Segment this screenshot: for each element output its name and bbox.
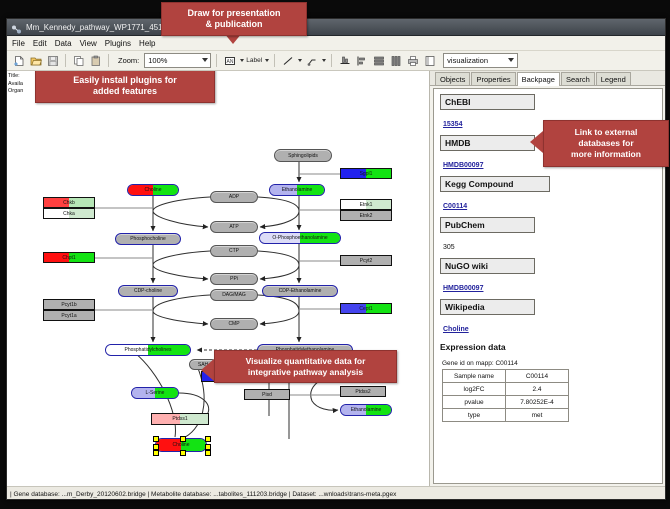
node-label: Etnk2	[360, 213, 373, 219]
gene-id-line: Gene id on mapp: C00114	[442, 360, 662, 367]
pathvisio-icon	[11, 22, 22, 33]
callout-links-line3: more information	[571, 149, 641, 160]
node-label: Etnk1	[360, 202, 373, 208]
metabolite-node-choline-top[interactable]: Choline	[127, 184, 179, 196]
callout-visualize-pointer	[201, 359, 214, 381]
toolbar-separator-1	[65, 54, 66, 67]
gene-node-chka[interactable]: Chka	[43, 208, 95, 219]
toolbar-separator-4	[274, 54, 275, 67]
node-label: L-Serine	[146, 390, 165, 396]
node-label: Ethanolamine	[282, 187, 313, 193]
toolbar-separator-2	[108, 54, 109, 67]
status-bar: | Gene database: ...m_Derby_20120602.bri…	[7, 486, 665, 500]
tab-backpage[interactable]: Backpage	[517, 72, 560, 86]
distribute-horizontal-icon[interactable]	[388, 53, 403, 68]
node-label: Ptdss2	[355, 389, 370, 395]
table-row: pvalue 7.80252E-4	[443, 396, 569, 409]
zoom-combobox[interactable]: 100%	[144, 53, 211, 68]
main-toolbar: Zoom: 100% AN Label	[7, 51, 665, 71]
node-label: PPi	[230, 276, 238, 282]
label-dropdown-icon[interactable]	[265, 59, 269, 62]
selection-handle-6[interactable]	[180, 450, 186, 456]
pathvisio-window: Mm_Kennedy_pathway_WP1771_45176.gpml Fil…	[6, 18, 666, 500]
tab-objects[interactable]: Objects	[435, 72, 470, 85]
datanode-icon[interactable]: AN	[222, 53, 237, 68]
distribute-vertical-icon[interactable]	[371, 53, 386, 68]
expression-key-type: type	[443, 409, 506, 422]
node-label: CTP	[229, 248, 239, 254]
node-label: Pcyt1b	[61, 302, 76, 308]
section-header-kegg: Kegg Compound	[440, 176, 550, 192]
section-header-wikipedia: Wikipedia	[440, 299, 535, 315]
paste-icon[interactable]	[88, 53, 103, 68]
chevron-down-icon[interactable]	[202, 58, 208, 62]
expression-value-log2fc: 2.4	[506, 383, 569, 396]
metabolite-node-ppi[interactable]: PPi	[210, 273, 258, 285]
align-left-icon[interactable]	[354, 53, 369, 68]
status-text: | Gene database: ...m_Derby_20120602.bri…	[10, 491, 396, 498]
metabolite-node-phosphatidylcholines[interactable]: Phosphatidylcholines	[105, 344, 191, 356]
callout-links-line1: Link to external	[571, 127, 641, 138]
expression-key-pvalue: pvalue	[443, 396, 506, 409]
metabolite-node-adp[interactable]: ADP	[210, 191, 258, 203]
callout-plugins: Easily install plugins for added feature…	[35, 71, 215, 103]
menu-edit[interactable]: Edit	[33, 39, 47, 48]
zoom-label: Zoom:	[118, 56, 139, 65]
tab-legend[interactable]: Legend	[596, 72, 631, 85]
node-label: ADP	[229, 194, 239, 200]
node-label: Choline	[145, 187, 162, 193]
svg-text:AN: AN	[226, 59, 233, 65]
gene-node-etnk2[interactable]: Etnk2	[340, 210, 392, 221]
table-row: type met	[443, 409, 569, 422]
section-header-pubchem: PubChem	[440, 217, 535, 233]
section-header-nugowiki: NuGO wiki	[440, 258, 535, 274]
metabolite-node-atp[interactable]: ATP	[210, 221, 258, 233]
interaction-tool-icon[interactable]	[304, 53, 319, 68]
metabolite-node-sphingolipids[interactable]: Sphingolipids	[274, 149, 332, 162]
gene-node-cept1[interactable]: Cept1	[340, 303, 392, 314]
datanode-dropdown-icon[interactable]	[240, 59, 244, 62]
callout-plugins-line2: added features	[73, 86, 177, 97]
node-label: CDP-choline	[134, 288, 162, 294]
toolbar-separator-3	[216, 54, 217, 67]
save-file-icon[interactable]	[45, 53, 60, 68]
node-label: Pcyt1a	[61, 313, 76, 319]
node-label: Choline	[173, 442, 190, 448]
window-titlebar: Mm_Kennedy_pathway_WP1771_45176.gpml	[7, 19, 665, 36]
gene-node-ptdss1[interactable]: Ptdss1	[151, 413, 209, 425]
gene-node-etnk1[interactable]: Etnk1	[340, 199, 392, 210]
gene-node-ptdss2[interactable]: Ptdss2	[340, 386, 386, 397]
print-icon[interactable]	[405, 53, 420, 68]
link-chebi[interactable]: 15354	[443, 121, 462, 128]
tab-properties[interactable]: Properties	[471, 72, 515, 85]
node-label: Sgpl1	[360, 171, 373, 177]
callout-visualize-line1: Visualize quantitative data for	[246, 356, 366, 367]
selection-handle-7[interactable]	[205, 450, 211, 456]
expression-value-type: met	[506, 409, 569, 422]
gene-node-pcyt2[interactable]: Pcyt2	[340, 255, 392, 266]
metabolite-node-phosphocholine[interactable]: Phosphocholine	[115, 233, 181, 245]
gene-node-chkb[interactable]: Chkb	[43, 197, 95, 208]
node-label: Ptdss1	[172, 416, 187, 422]
menu-data[interactable]: Data	[55, 39, 72, 48]
metabolite-node-ctp[interactable]: CTP	[210, 245, 258, 257]
link-kegg[interactable]: C00114	[443, 203, 467, 210]
line-tool-icon[interactable]	[280, 53, 295, 68]
node-label: O-Phosphoethanolamine	[272, 235, 327, 241]
expression-data-title: Expression data	[440, 342, 662, 352]
callout-links: Link to external databases for more info…	[543, 120, 669, 167]
section-header-hmdb: HMDB	[440, 135, 535, 151]
node-label: Cept1	[359, 306, 372, 312]
table-row: log2FC 2.4	[443, 383, 569, 396]
callout-draw-line1: Draw for presentation	[187, 8, 280, 19]
menu-file[interactable]: File	[12, 39, 25, 48]
node-label: Chkb	[63, 200, 75, 206]
gene-node-sgpl1[interactable]: Sgpl1	[340, 168, 392, 179]
node-label: Phosphatidylcholines	[125, 347, 172, 353]
menu-bar: File Edit Data View Plugins Help	[7, 36, 665, 51]
visualization-chevron-down-icon[interactable]	[508, 58, 514, 62]
metabolite-node-cmp[interactable]: CMP	[210, 318, 258, 330]
desktop-background: Mm_Kennedy_pathway_WP1771_45176.gpml Fil…	[0, 0, 670, 509]
visualization-combobox[interactable]: visualization	[443, 53, 518, 68]
node-label: Pisd	[262, 392, 272, 398]
open-file-icon[interactable]	[28, 53, 43, 68]
node-label: Pcyt2	[360, 258, 373, 264]
interaction-dropdown-icon[interactable]	[322, 59, 326, 62]
toolbar-separator-5	[331, 54, 332, 67]
label-button[interactable]: Label	[246, 57, 262, 64]
align-top-icon[interactable]	[337, 53, 352, 68]
line-dropdown-icon[interactable]	[298, 59, 302, 62]
selection-handle-2[interactable]	[205, 436, 211, 442]
side-panel-tabs: Objects Properties Backpage Search Legen…	[430, 71, 665, 86]
menu-plugins[interactable]: Plugins	[105, 39, 131, 48]
node-label: CDP-Ethanolamine	[279, 288, 322, 294]
expression-key-sample-name: Sample name	[443, 370, 506, 383]
metabolite-node-cdp-ethanolamine[interactable]: CDP-Ethanolamine	[262, 285, 338, 297]
link-nugowiki[interactable]: HMDB00097	[443, 285, 483, 292]
metabolite-node-dag-mag[interactable]: DAG/MAG	[210, 289, 258, 301]
node-label: Sphingolipids	[288, 153, 318, 159]
metabolite-node-ethanolamine-bottom[interactable]: Ethanolamine	[340, 404, 392, 416]
callout-draw-line2: & publication	[187, 19, 280, 30]
node-label: Phosphocholine	[130, 236, 166, 242]
menu-view[interactable]: View	[80, 39, 97, 48]
copy-icon[interactable]	[71, 53, 86, 68]
node-label: CMP	[228, 321, 239, 327]
metabolite-node-o-phosphoethanolamine[interactable]: O-Phosphoethanolamine	[259, 232, 341, 244]
value-pubchem: 305	[443, 244, 455, 251]
section-header-chebi: ChEBI	[440, 94, 535, 110]
callout-links-pointer	[530, 131, 543, 153]
link-hmdb[interactable]: HMDB00097	[443, 162, 483, 169]
new-file-icon[interactable]	[11, 53, 26, 68]
metabolite-node-cdp-choline[interactable]: CDP-choline	[118, 285, 178, 297]
gene-node-pcyt1a[interactable]: Pcyt1a	[43, 310, 95, 321]
node-label: Chpt1	[62, 255, 75, 261]
menu-help[interactable]: Help	[139, 39, 155, 48]
node-label: ATP	[229, 224, 238, 230]
metabolite-node-choline-bottom[interactable]: Choline	[155, 438, 207, 452]
gene-node-chpt1[interactable]: Chpt1	[43, 252, 95, 263]
link-wikipedia[interactable]: Choline	[443, 326, 469, 333]
gene-node-pisd[interactable]: Pisd	[244, 389, 290, 400]
gene-node-pcyt1b[interactable]: Pcyt1b	[43, 299, 95, 310]
expression-table: Sample name C00114 log2FC 2.4 pvalue 7.8…	[442, 369, 569, 422]
node-label: Chka	[63, 211, 75, 217]
callout-visualize: Visualize quantitative data for integrat…	[214, 350, 397, 383]
pathway-canvas[interactable]: Title: Availa Organ	[7, 71, 429, 486]
metabolite-node-ethanolamine-top[interactable]: Ethanolamine	[269, 184, 325, 196]
expression-key-log2fc: log2FC	[443, 383, 506, 396]
zoom-value: 100%	[148, 56, 167, 65]
selection-handle-0[interactable]	[153, 436, 159, 442]
callout-links-line2: databases for	[571, 138, 641, 149]
metabolite-node-l-serine-left[interactable]: L-Serine	[131, 387, 179, 399]
callout-visualize-line2: integrative pathway analysis	[246, 367, 366, 378]
node-label: DAG/MAG	[222, 292, 246, 298]
callout-draw: Draw for presentation & publication	[161, 2, 307, 36]
visualization-value: visualization	[447, 56, 488, 65]
table-row: Sample name C00114	[443, 370, 569, 383]
tab-search[interactable]: Search	[561, 72, 595, 85]
selection-handle-5[interactable]	[153, 450, 159, 456]
callout-plugins-line1: Easily install plugins for	[73, 75, 177, 86]
page-setup-icon[interactable]	[422, 53, 437, 68]
node-label: Ethanolamine	[351, 407, 382, 413]
expression-value-sample-name: C00114	[506, 370, 569, 383]
expression-value-pvalue: 7.80252E-4	[506, 396, 569, 409]
